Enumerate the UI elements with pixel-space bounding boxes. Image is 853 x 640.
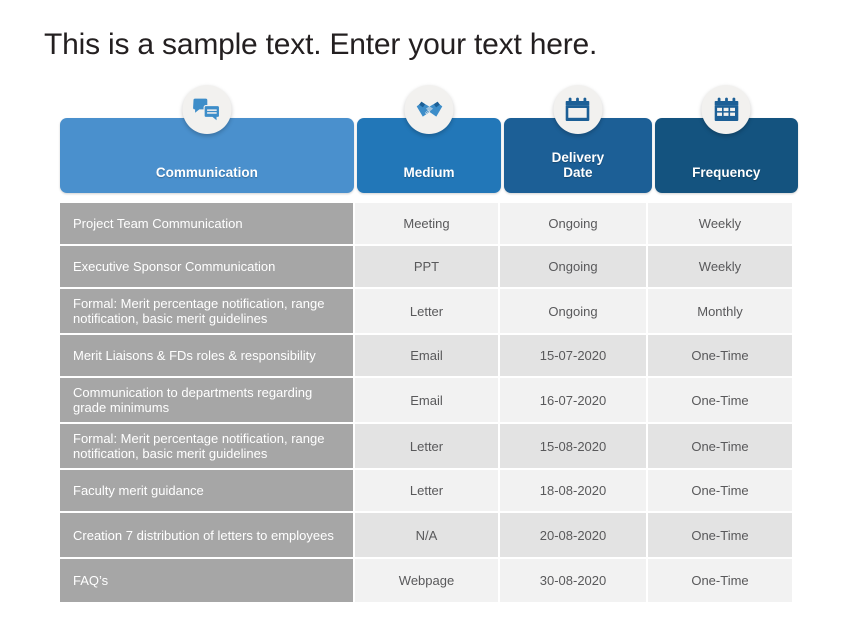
table-body: Project Team CommunicationMeetingOngoing… bbox=[60, 203, 798, 602]
table-cell-delivery_date: Ongoing bbox=[500, 246, 648, 289]
calendar-grid-icon bbox=[702, 85, 751, 134]
handshake-icon bbox=[405, 85, 454, 134]
table-row[interactable]: Executive Sponsor CommunicationPPTOngoin… bbox=[60, 246, 798, 289]
table-cell-communication: Executive Sponsor Communication bbox=[60, 246, 355, 289]
table-header-cell-3[interactable]: Frequency bbox=[655, 118, 798, 193]
table-cell-medium: Email bbox=[355, 335, 500, 378]
table-cell-communication: Creation 7 distribution of letters to em… bbox=[60, 513, 355, 559]
table-cell-medium: Letter bbox=[355, 470, 500, 513]
table-cell-delivery_date: Ongoing bbox=[500, 289, 648, 335]
table-header-label: Delivery Date bbox=[552, 150, 605, 193]
table-header-cell-2[interactable]: Delivery Date bbox=[504, 118, 651, 193]
table-header-label: Communication bbox=[156, 165, 258, 193]
calendar-blank-icon bbox=[553, 85, 602, 134]
table-row[interactable]: Formal: Merit percentage notification, r… bbox=[60, 424, 798, 470]
table-row[interactable]: Faculty merit guidanceLetter18-08-2020On… bbox=[60, 470, 798, 513]
table-cell-frequency: One-Time bbox=[648, 470, 792, 513]
page-title: This is a sample text. Enter your text h… bbox=[44, 28, 597, 62]
communication-plan-table: CommunicationMediumDelivery DateFrequenc… bbox=[60, 85, 798, 610]
table-cell-frequency: One-Time bbox=[648, 424, 792, 470]
table-cell-frequency: One-Time bbox=[648, 335, 792, 378]
table-cell-frequency: One-Time bbox=[648, 513, 792, 559]
table-row[interactable]: Communication to departments regarding g… bbox=[60, 378, 798, 424]
table-cell-communication: FAQ’s bbox=[60, 559, 355, 602]
table-header-row: CommunicationMediumDelivery DateFrequenc… bbox=[60, 118, 798, 193]
table-cell-medium: Meeting bbox=[355, 203, 500, 246]
table-cell-frequency: Weekly bbox=[648, 203, 792, 246]
table-cell-communication: Communication to departments regarding g… bbox=[60, 378, 355, 424]
table-cell-delivery_date: 30-08-2020 bbox=[500, 559, 648, 602]
table-cell-medium: Letter bbox=[355, 424, 500, 470]
table-cell-delivery_date: 15-08-2020 bbox=[500, 424, 648, 470]
table-cell-medium: Letter bbox=[355, 289, 500, 335]
table-header-label: Frequency bbox=[692, 165, 760, 193]
table-header-label: Medium bbox=[403, 165, 454, 193]
table-row[interactable]: Merit Liaisons & FDs roles & responsibil… bbox=[60, 335, 798, 378]
table-cell-delivery_date: 16-07-2020 bbox=[500, 378, 648, 424]
table-cell-communication: Faculty merit guidance bbox=[60, 470, 355, 513]
table-row[interactable]: Project Team CommunicationMeetingOngoing… bbox=[60, 203, 798, 246]
table-cell-communication: Project Team Communication bbox=[60, 203, 355, 246]
table-cell-delivery_date: Ongoing bbox=[500, 203, 648, 246]
table-header-cell-0[interactable]: Communication bbox=[60, 118, 354, 193]
table-row[interactable]: Formal: Merit percentage notification, r… bbox=[60, 289, 798, 335]
table-row[interactable]: FAQ’sWebpage30-08-2020One-Time bbox=[60, 559, 798, 602]
table-row[interactable]: Creation 7 distribution of letters to em… bbox=[60, 513, 798, 559]
table-cell-medium: Email bbox=[355, 378, 500, 424]
table-cell-frequency: Weekly bbox=[648, 246, 792, 289]
table-cell-medium: PPT bbox=[355, 246, 500, 289]
table-cell-communication: Formal: Merit percentage notification, r… bbox=[60, 424, 355, 470]
table-cell-frequency: One-Time bbox=[648, 559, 792, 602]
table-cell-delivery_date: 18-08-2020 bbox=[500, 470, 648, 513]
table-cell-communication: Merit Liaisons & FDs roles & responsibil… bbox=[60, 335, 355, 378]
table-cell-frequency: One-Time bbox=[648, 378, 792, 424]
table-cell-medium: Webpage bbox=[355, 559, 500, 602]
table-cell-medium: N/A bbox=[355, 513, 500, 559]
table-cell-frequency: Monthly bbox=[648, 289, 792, 335]
table-cell-delivery_date: 15-07-2020 bbox=[500, 335, 648, 378]
table-cell-delivery_date: 20-08-2020 bbox=[500, 513, 648, 559]
chat-bubbles-icon bbox=[182, 85, 231, 134]
table-cell-communication: Formal: Merit percentage notification, r… bbox=[60, 289, 355, 335]
table-header-cell-1[interactable]: Medium bbox=[357, 118, 501, 193]
